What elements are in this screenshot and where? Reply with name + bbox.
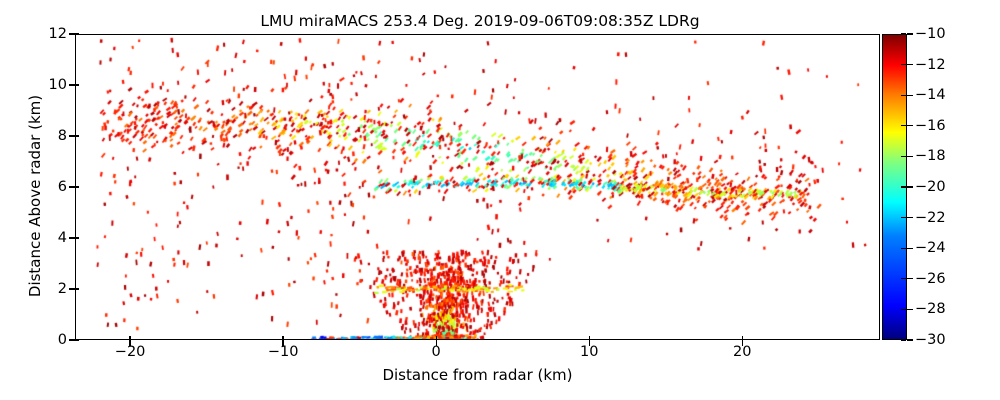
colorbar-tick-mark <box>901 125 906 126</box>
colorbar-tick-mark <box>907 309 913 310</box>
x-axis-label: Distance from radar (km) <box>75 366 880 384</box>
x-tick-mark <box>129 336 130 340</box>
colorbar-tick-label: −30 <box>915 332 946 348</box>
y-tick-mark <box>75 33 79 34</box>
x-tick-label: −20 <box>115 344 146 360</box>
colorbar-tick-mark <box>907 278 913 279</box>
colorbar-tick-mark <box>907 64 913 65</box>
colorbar-tick-label: −10 <box>915 26 946 42</box>
colorbar-tick-label: −18 <box>915 148 946 164</box>
y-tick-label: 10 <box>49 77 67 93</box>
colorbar-tick-label: −20 <box>915 179 946 195</box>
colorbar-tick-mark <box>901 186 906 187</box>
colorbar-tick-mark <box>901 278 906 279</box>
colorbar-tick-mark <box>907 217 913 218</box>
colorbar-tick-label: −14 <box>915 87 946 103</box>
y-tick-mark <box>75 288 79 289</box>
y-tick-label: 2 <box>58 281 67 297</box>
colorbar-tick-mark <box>901 309 906 310</box>
page-title: LMU miraMACS 253.4 Deg. 2019-09-06T09:08… <box>0 12 960 30</box>
plot-area <box>75 34 880 340</box>
colorbar-tick-mark <box>901 156 906 157</box>
colorbar-tick-mark <box>907 95 913 96</box>
colorbar-tick-mark <box>907 125 913 126</box>
colorbar-tick-mark <box>901 95 906 96</box>
scatter-plot-canvas <box>76 35 880 340</box>
colorbar-tick-mark <box>901 64 906 65</box>
colorbar-tick-label: −22 <box>915 210 946 226</box>
y-tick-mark <box>75 186 79 187</box>
y-tick-mark <box>75 339 79 340</box>
colorbar-tick-mark <box>907 156 913 157</box>
colorbar-tick-label: −26 <box>915 271 946 287</box>
y-tick-label: 12 <box>49 26 67 42</box>
colorbar-tick-label: −12 <box>915 57 946 73</box>
y-tick-mark <box>75 135 79 136</box>
colorbar-tick-mark <box>901 339 906 340</box>
radar-rhi-figure: LMU miraMACS 253.4 Deg. 2019-09-06T09:08… <box>0 0 1000 400</box>
colorbar-tick-mark <box>901 248 906 249</box>
y-axis-label: Distance Above radar (km) <box>26 43 44 349</box>
colorbar-tick-mark <box>907 186 913 187</box>
colorbar-tick-mark <box>907 248 913 249</box>
colorbar-tick-mark <box>901 33 906 34</box>
colorbar-tick-mark <box>907 33 913 34</box>
x-tick-mark <box>589 336 590 340</box>
y-tick-label: 8 <box>58 128 67 144</box>
y-tick-mark <box>75 237 79 238</box>
colorbar-tick-label: −16 <box>915 118 946 134</box>
x-tick-label: 0 <box>432 344 441 360</box>
x-tick-label: −10 <box>268 344 299 360</box>
x-tick-mark <box>436 336 437 340</box>
colorbar-tick-label: −28 <box>915 301 946 317</box>
x-tick-label: 10 <box>580 344 598 360</box>
x-tick-mark <box>742 336 743 340</box>
x-tick-mark <box>282 336 283 340</box>
y-tick-label: 6 <box>58 179 67 195</box>
colorbar-tick-label: −24 <box>915 240 946 256</box>
y-tick-label: 4 <box>58 230 67 246</box>
y-tick-label: 0 <box>58 332 67 348</box>
y-tick-mark <box>75 84 79 85</box>
x-tick-label: 20 <box>733 344 751 360</box>
colorbar-tick-mark <box>901 217 906 218</box>
colorbar-tick-mark <box>907 339 913 340</box>
